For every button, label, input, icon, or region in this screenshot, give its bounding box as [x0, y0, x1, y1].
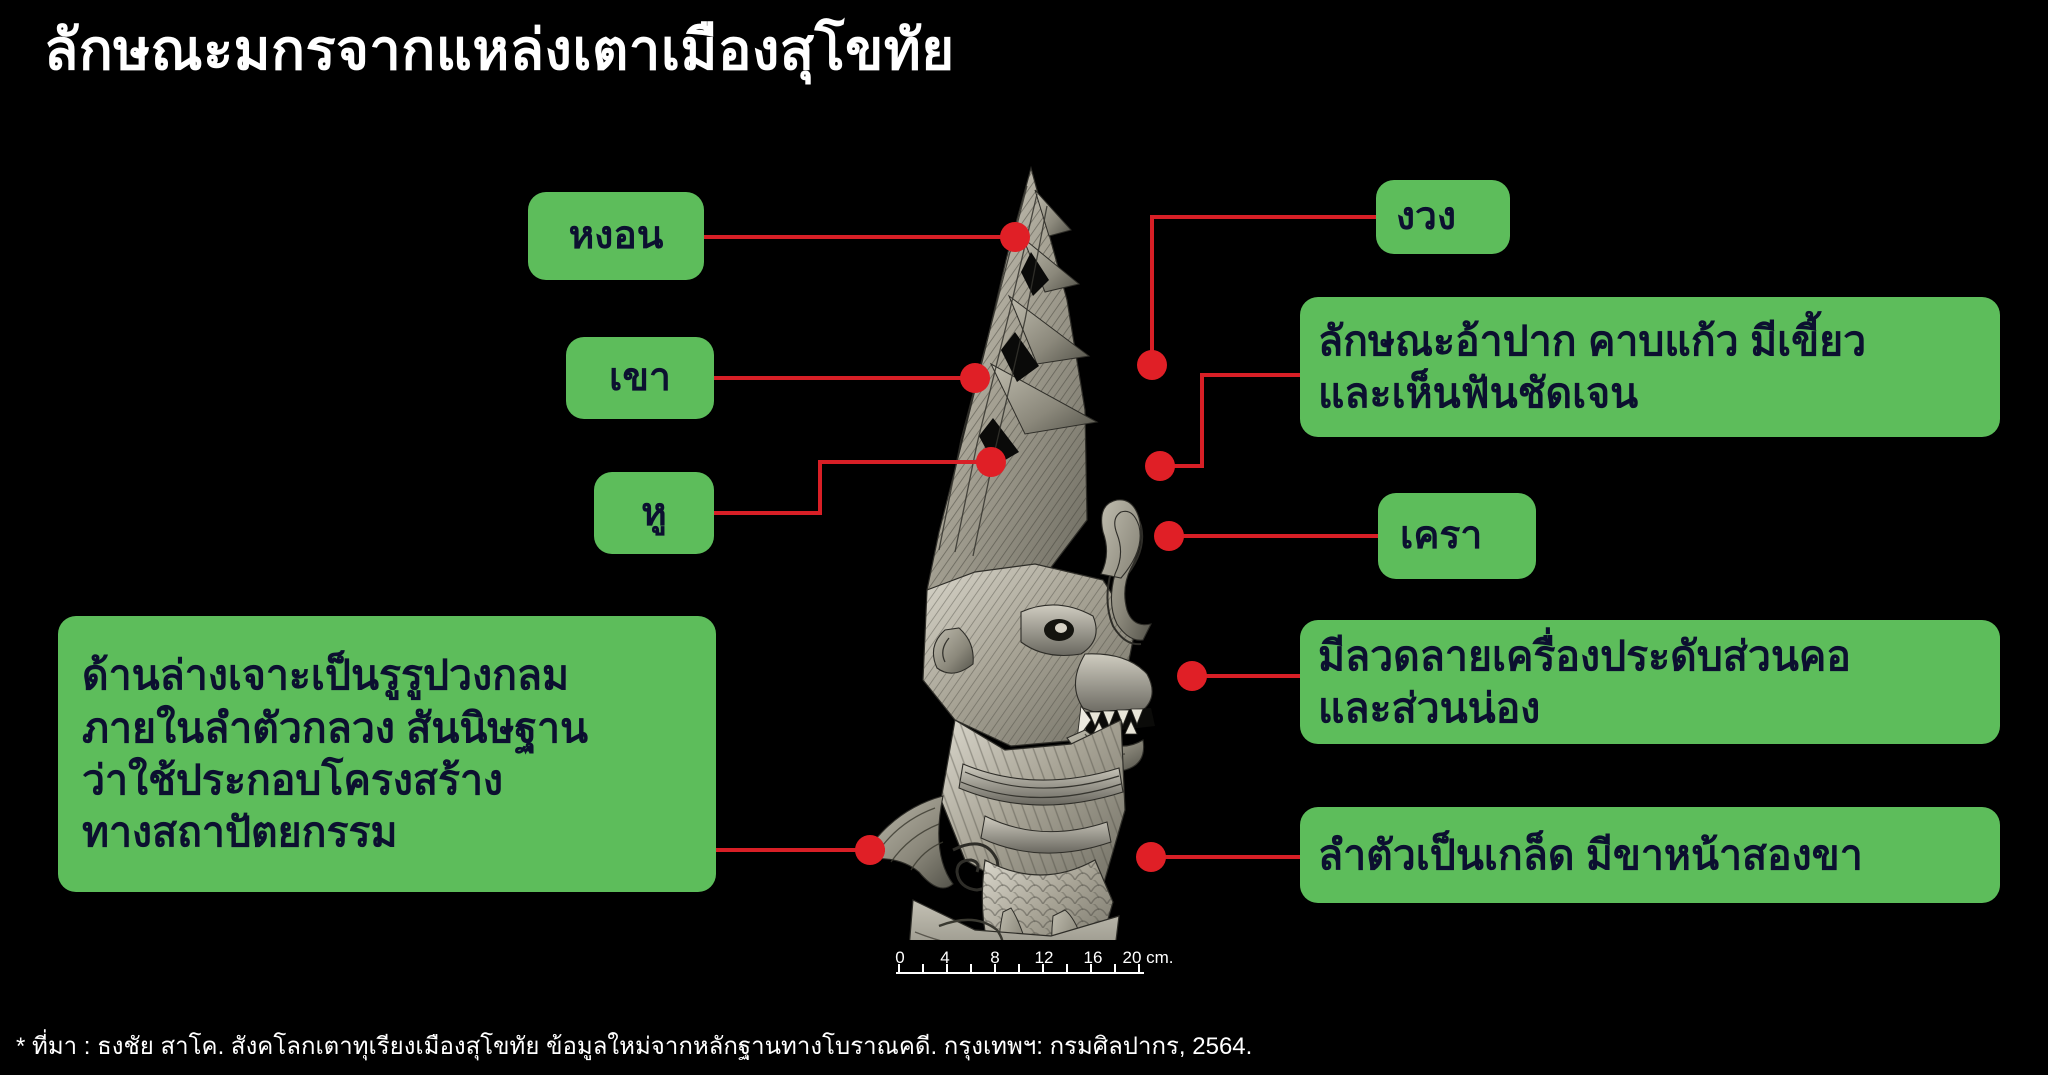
page-title: ลักษณะมกรจากแหล่งเตาเมืองสุโขทัย: [44, 18, 955, 82]
callout-crest-label: หงอน: [528, 211, 704, 261]
leader-line-trunk-seg2: [1150, 215, 1154, 365]
scale-bar-labels: 0 4 8 12 16 20 cm.: [896, 948, 1156, 970]
leader-dot-beard: [1154, 521, 1184, 551]
leader-dot-neck: [1177, 661, 1207, 691]
leader-dot-trunk: [1137, 350, 1167, 380]
scale-label-4: 4: [940, 948, 949, 968]
scale-bar: 0 4 8 12 16 20 cm.: [896, 948, 1156, 994]
callout-mouth-label: ลักษณะอ้าปาก คาบแก้ว มีเขี้ยว และเห็นฟัน…: [1318, 315, 1982, 420]
scale-tick: [994, 964, 996, 973]
callout-body[interactable]: ลำตัวเป็นเกล็ด มีขาหน้าสองขา: [1300, 807, 2000, 903]
callout-trunk[interactable]: งวง: [1376, 180, 1510, 254]
callout-mouth[interactable]: ลักษณะอ้าปาก คาบแก้ว มีเขี้ยว และเห็นฟัน…: [1300, 297, 2000, 437]
callout-hollow-label: ด้านล่างเจาะเป็นรูรูปวงกลม ภายในลำตัวกลว…: [82, 649, 692, 859]
scale-tick: [898, 964, 900, 973]
scale-tick: [970, 964, 972, 973]
callout-horn[interactable]: เขา: [566, 337, 714, 419]
callout-neck-deco-label: มีลวดลายเครื่องประดับส่วนคอ และส่วนน่อง: [1318, 630, 1982, 735]
leader-dot-ear: [976, 447, 1006, 477]
leader-line-body: [1150, 855, 1306, 859]
scale-label-20: 20 cm.: [1122, 948, 1173, 968]
callout-neck-deco[interactable]: มีลวดลายเครื่องประดับส่วนคอ และส่วนน่อง: [1300, 620, 2000, 744]
leader-dot-crest: [1000, 222, 1030, 252]
source-citation: * ที่มา : ธงชัย สาโค. สังคโลกเตาทุเรียงเ…: [16, 1026, 1252, 1065]
makara-sculpture-svg: [835, 160, 1235, 940]
callout-beard-label: เครา: [1400, 511, 1514, 561]
leader-line-ear-seg1: [712, 511, 822, 515]
leader-dot-hollow: [855, 835, 885, 865]
makara-sculpture-image: [835, 160, 1235, 940]
scale-tick: [1018, 964, 1020, 973]
callout-crest[interactable]: หงอน: [528, 192, 704, 280]
scale-tick: [1090, 964, 1092, 973]
slide-canvas: ลักษณะมกรจากแหล่งเตาเมืองสุโขทัย: [0, 0, 2048, 1075]
callout-hollow[interactable]: ด้านล่างเจาะเป็นรูรูปวงกลม ภายในลำตัวกลว…: [58, 616, 716, 892]
scale-tick: [1066, 964, 1068, 973]
leader-line-crest: [700, 235, 1012, 239]
leader-dot-body: [1136, 842, 1166, 872]
leader-line-mouth-seg3: [1172, 464, 1204, 468]
leader-line-beard: [1168, 534, 1382, 538]
leader-line-mouth-seg2: [1200, 373, 1204, 468]
leader-dot-horn: [960, 363, 990, 393]
scale-label-16: 16: [1084, 948, 1103, 968]
callout-horn-label: เขา: [566, 353, 714, 403]
leader-line-neck: [1190, 674, 1306, 678]
scale-tick: [1138, 964, 1140, 973]
callout-ear[interactable]: หู: [594, 472, 714, 554]
scale-label-12: 12: [1035, 948, 1054, 968]
scale-tick: [946, 964, 948, 973]
leader-line-trunk-seg1: [1150, 215, 1382, 219]
scale-tick: [922, 964, 924, 973]
scale-tick: [1042, 964, 1044, 973]
leader-line-horn: [712, 376, 974, 380]
leader-dot-mouth: [1145, 451, 1175, 481]
leader-line-mouth-seg1: [1200, 373, 1304, 377]
leader-line-ear-seg2: [818, 460, 822, 515]
leader-line-ear-seg3: [818, 460, 990, 464]
callout-trunk-label: งวง: [1396, 192, 1490, 242]
scale-tick: [1114, 964, 1116, 973]
scale-label-0: 0: [895, 948, 904, 968]
callout-ear-label: หู: [594, 488, 714, 538]
scale-bar-axis: [896, 972, 1144, 974]
callout-body-label: ลำตัวเป็นเกล็ด มีขาหน้าสองขา: [1318, 829, 1982, 881]
callout-beard[interactable]: เครา: [1378, 493, 1536, 579]
